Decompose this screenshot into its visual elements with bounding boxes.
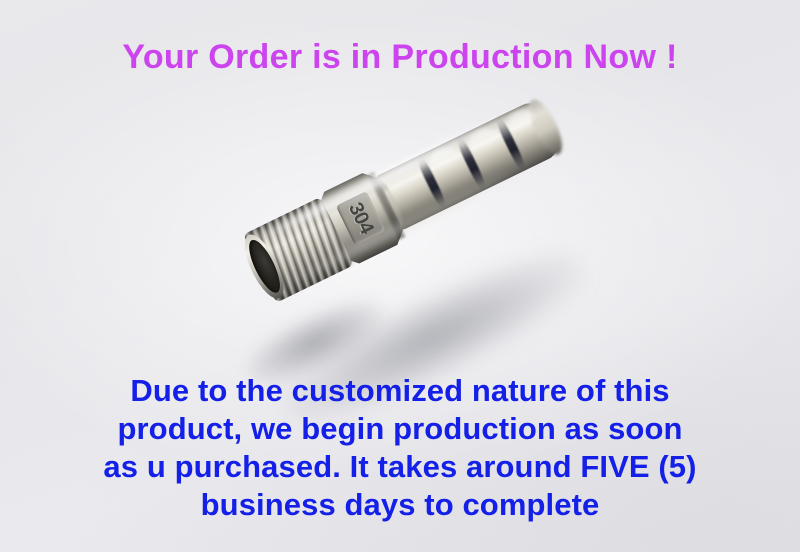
promo-banner: Your Order is in Production Now ! 304 [0, 0, 800, 552]
notice-line: as u purchased. It takes around FIVE (5) [0, 448, 800, 486]
headline-text: Your Order is in Production Now ! [0, 38, 800, 77]
notice-line: Due to the customized nature of this [0, 372, 800, 410]
production-notice: Due to the customized nature of this pro… [0, 372, 800, 524]
notice-line: business days to complete [0, 486, 800, 524]
notice-line: product, we begin production as soon [0, 410, 800, 448]
product-photo: 304 [0, 120, 800, 380]
